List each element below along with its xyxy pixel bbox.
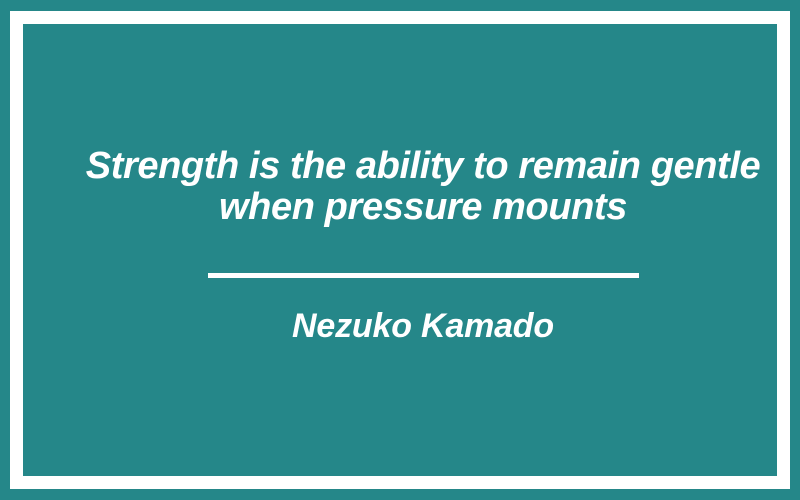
divider (46, 273, 800, 278)
horizontal-rule-icon (208, 273, 639, 278)
author-name: Nezuko Kamado (46, 306, 800, 346)
card-white-frame: Strength is the ability to remain gentle… (10, 11, 790, 489)
card-content-area: Strength is the ability to remain gentle… (46, 48, 800, 500)
quote-text: Strength is the ability to remain gentle… (46, 146, 800, 228)
quote-card: Strength is the ability to remain gentle… (0, 0, 800, 500)
